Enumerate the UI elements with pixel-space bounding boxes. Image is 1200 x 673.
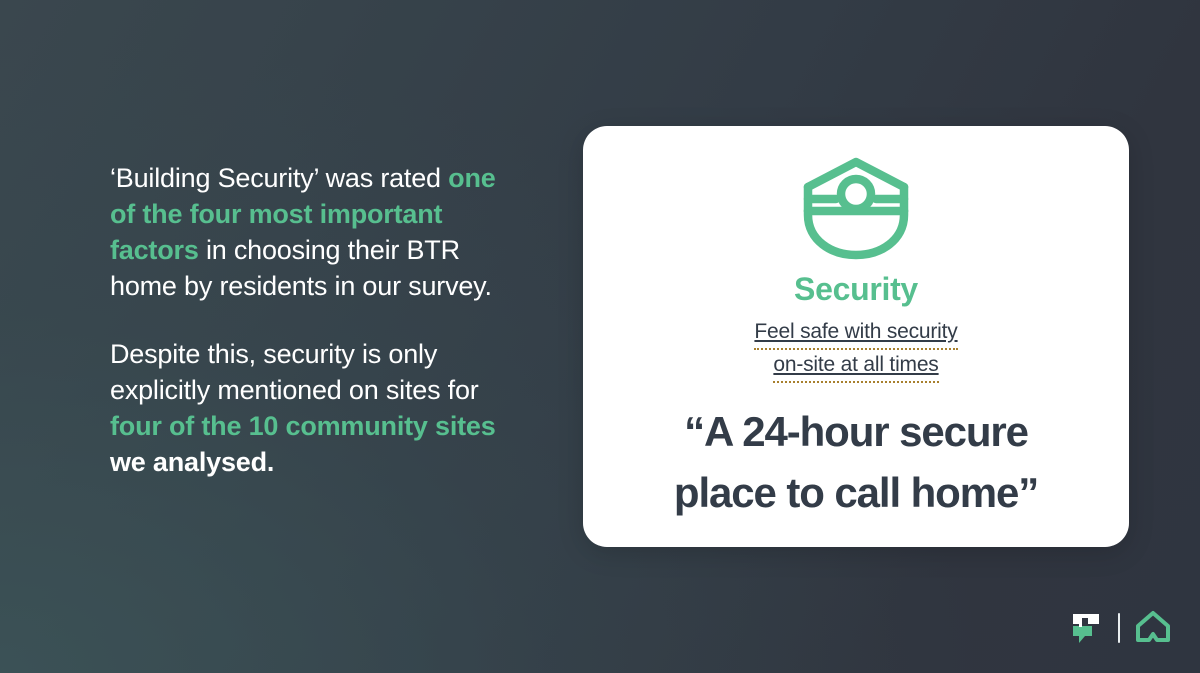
card-quote-line-1: “A 24-hour secure [684,408,1028,455]
paragraph-two-highlight: four of the 10 community sites [110,411,496,441]
copy-column: ‘Building Security’ was rated one of the… [110,160,510,480]
paragraph-two-part-2: we analysed. [110,447,274,477]
paragraph-two-part-1: Despite this, security is only explicitl… [110,339,479,405]
speech-bubbles-logo [1068,610,1104,646]
paragraph-two: Despite this, security is only explicitl… [110,336,510,480]
card-subtitle-line-2: on-site at all times [773,350,938,383]
paragraph-one: ‘Building Security’ was rated one of the… [110,160,510,304]
card-quote: “A 24-hour secure place to call home” [621,401,1091,523]
security-cap-icon [800,155,912,261]
home-arch-logo [1134,610,1172,646]
footer-logo-group [1068,606,1172,650]
card-title: Security [794,273,918,307]
paragraph-one-part-1: ‘Building Security’ was rated [110,163,448,193]
card-quote-line-2: place to call home” [674,469,1038,516]
security-card: Security Feel safe with security on-site… [583,126,1129,547]
logo-divider [1118,613,1120,643]
card-subtitle-line-1: Feel safe with security [754,317,957,350]
slide-root: ‘Building Security’ was rated one of the… [0,0,1200,673]
card-subtitle: Feel safe with security on-site at all t… [706,317,1006,383]
